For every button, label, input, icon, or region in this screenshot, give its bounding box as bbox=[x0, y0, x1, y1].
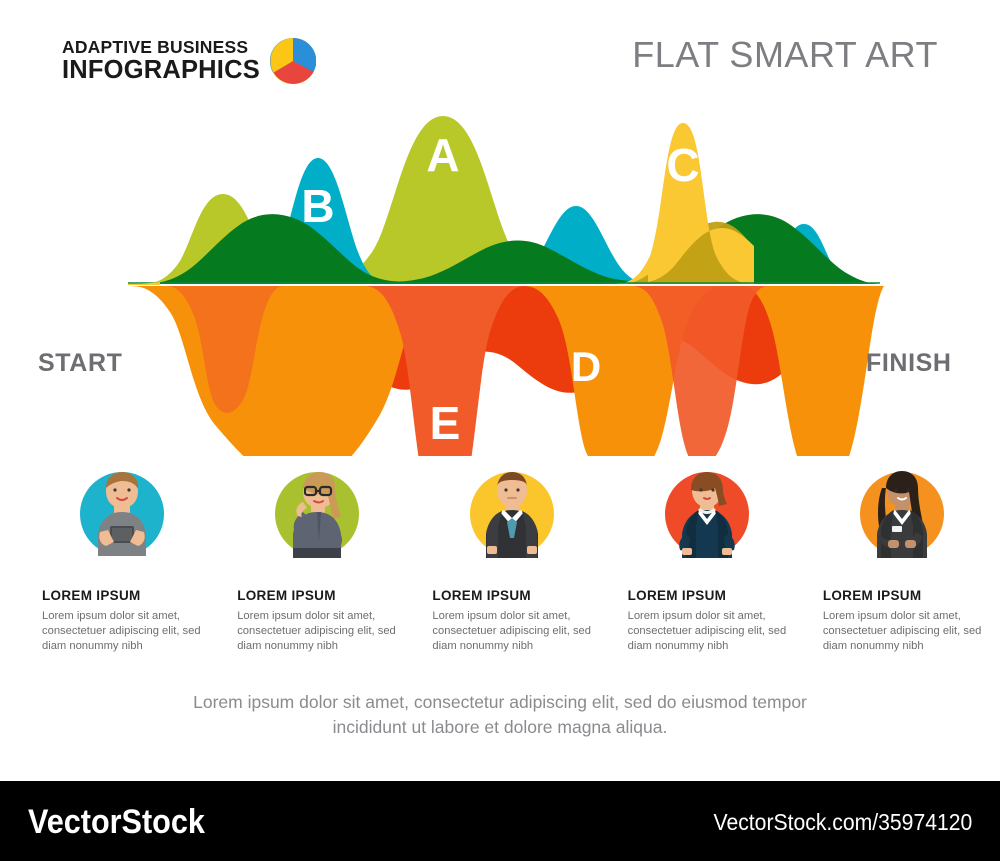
person-description: Lorem ipsum dolor sit amet, consectetuer… bbox=[42, 609, 202, 654]
list-item[interactable]: LOREM IPSUM Lorem ipsum dolor sit amet, … bbox=[414, 462, 609, 654]
avatar-man-suit-tie bbox=[460, 462, 564, 566]
watermark-url: VectorStock.com/35974120 bbox=[713, 809, 972, 836]
page-title: FLAT SMART ART bbox=[632, 34, 938, 76]
list-item[interactable]: LOREM IPSUM Lorem ipsum dolor sit amet, … bbox=[24, 462, 219, 654]
people-list: LOREM IPSUM Lorem ipsum dolor sit amet, … bbox=[0, 462, 1000, 654]
axis-label-start: START bbox=[38, 349, 122, 378]
list-item[interactable]: LOREM IPSUM Lorem ipsum dolor sit amet, … bbox=[805, 462, 1000, 654]
person-description: Lorem ipsum dolor sit amet, consectetuer… bbox=[237, 609, 397, 654]
avatar-woman-hands-hips bbox=[655, 462, 759, 566]
person-title: LOREM IPSUM bbox=[823, 588, 922, 603]
chart-canvas: A B C D E bbox=[0, 96, 1000, 456]
person-description: Lorem ipsum dolor sit amet, consectetuer… bbox=[823, 609, 983, 654]
footer-paragraph: Lorem ipsum dolor sit amet, consectetur … bbox=[170, 690, 830, 741]
series-label-D: D bbox=[571, 343, 601, 390]
brand-text: ADAPTIVE BUSINESS INFOGRAPHICS bbox=[62, 39, 260, 83]
brand-logo-block: ADAPTIVE BUSINESS INFOGRAPHICS bbox=[62, 38, 316, 84]
series-label-A: A bbox=[426, 129, 459, 181]
brand-line-2: INFOGRAPHICS bbox=[62, 58, 260, 84]
avatar-woman-glasses bbox=[265, 462, 369, 566]
person-title: LOREM IPSUM bbox=[628, 588, 727, 603]
person-title: LOREM IPSUM bbox=[42, 588, 141, 603]
watermark-logo: VectorStock bbox=[28, 803, 205, 842]
wave-area-chart: A B C D E START FINISH bbox=[0, 96, 1000, 456]
person-title: LOREM IPSUM bbox=[432, 588, 531, 603]
list-item[interactable]: LOREM IPSUM Lorem ipsum dolor sit amet, … bbox=[610, 462, 805, 654]
brand-line-1: ADAPTIVE BUSINESS bbox=[62, 39, 260, 57]
series-label-B: B bbox=[301, 180, 334, 232]
avatar-woman-tablet bbox=[70, 462, 174, 566]
axis-label-finish: FINISH bbox=[866, 349, 952, 378]
person-title: LOREM IPSUM bbox=[237, 588, 336, 603]
series-label-C: C bbox=[666, 139, 699, 191]
list-item[interactable]: LOREM IPSUM Lorem ipsum dolor sit amet, … bbox=[219, 462, 414, 654]
person-description: Lorem ipsum dolor sit amet, consectetuer… bbox=[432, 609, 592, 654]
avatar-woman-arms-crossed bbox=[850, 462, 954, 566]
watermark-bar: VectorStock VectorStock.com/35974120 bbox=[0, 781, 1000, 861]
person-description: Lorem ipsum dolor sit amet, consectetuer… bbox=[628, 609, 788, 654]
pie-chart-icon bbox=[270, 38, 316, 84]
series-label-E: E bbox=[430, 397, 461, 449]
page-header: ADAPTIVE BUSINESS INFOGRAPHICS FLAT SMAR… bbox=[0, 0, 1000, 100]
